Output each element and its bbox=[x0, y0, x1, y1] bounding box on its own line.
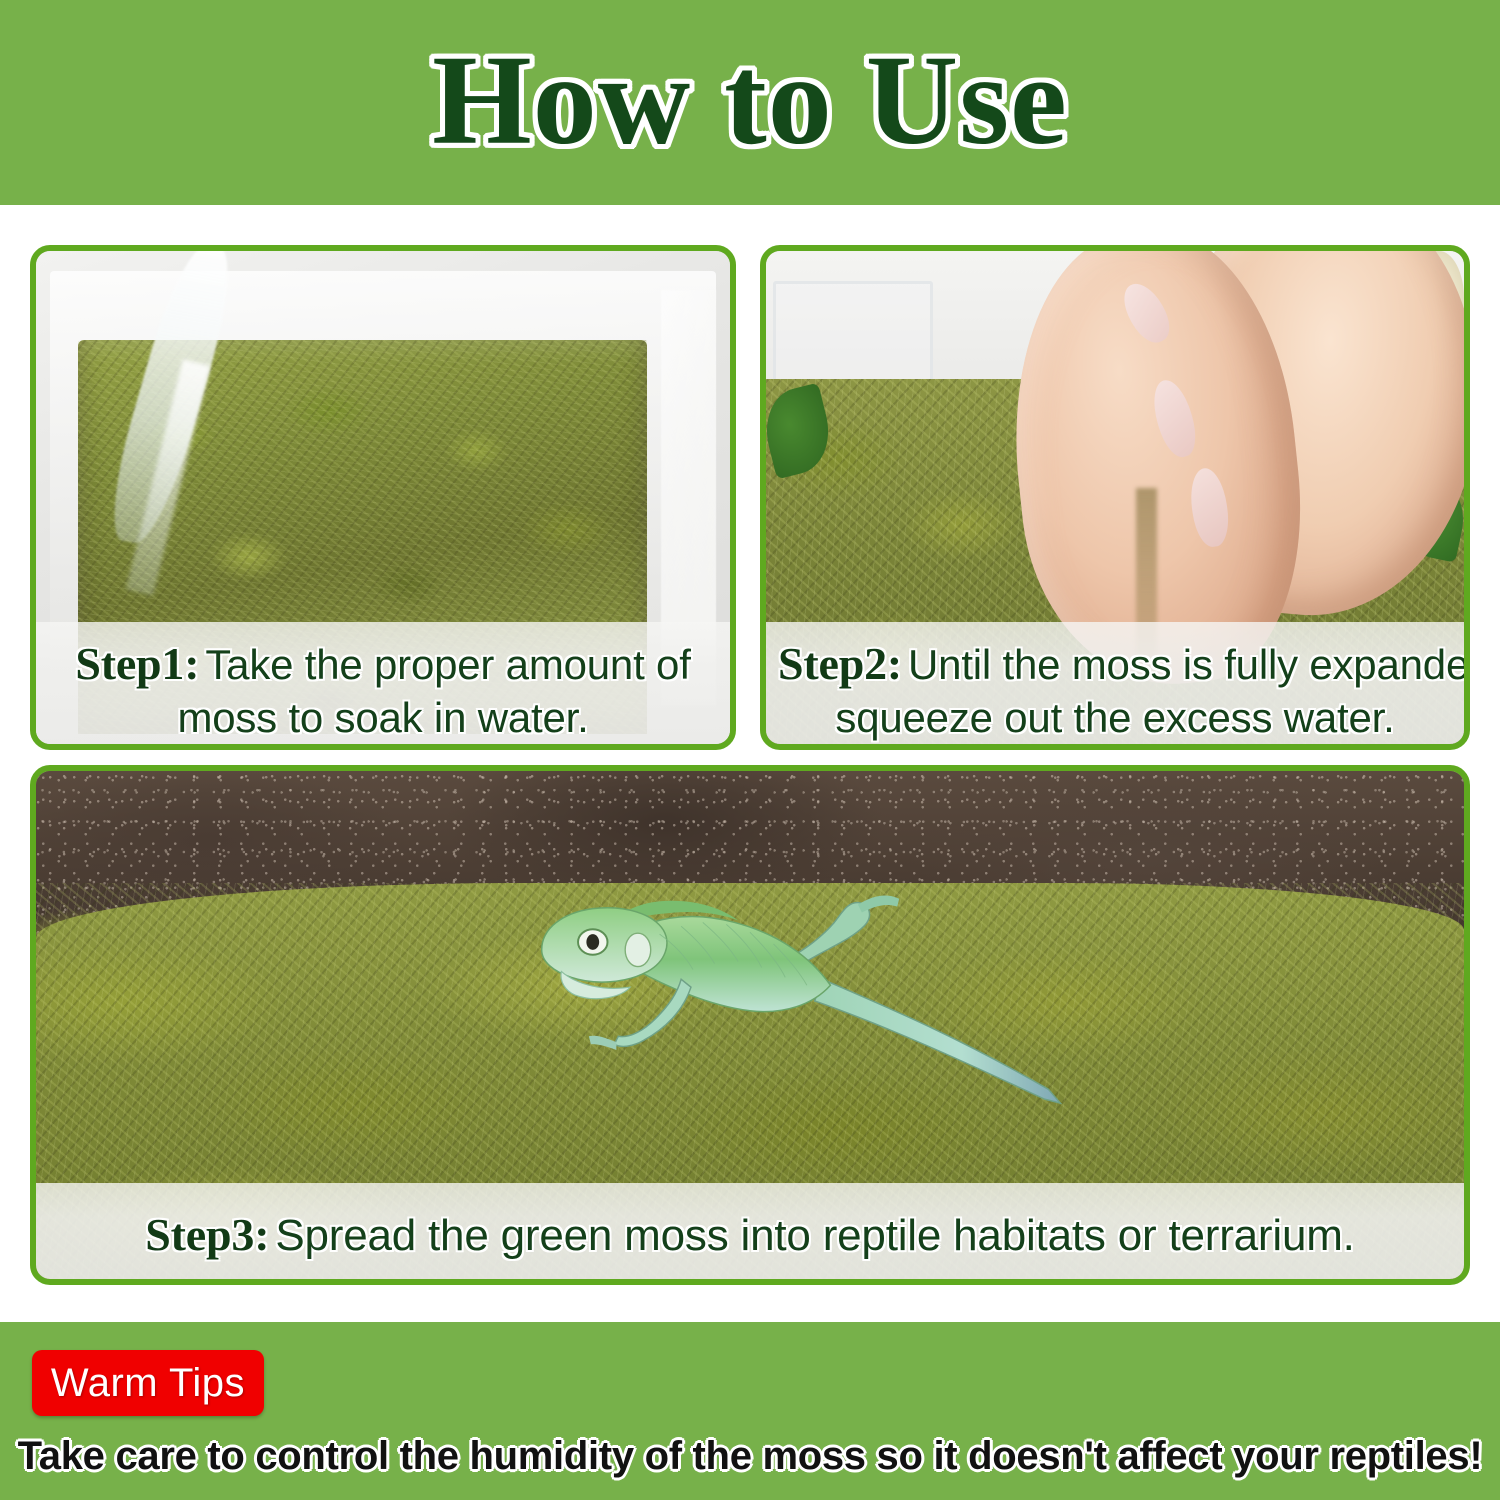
footer-banner: Warm Tips Take care to control the humid… bbox=[0, 1322, 1500, 1500]
step1-label: Step1: bbox=[75, 638, 199, 689]
step1-text-line-1: Take the proper amount of bbox=[205, 641, 690, 688]
step1-card: Step1:Take the proper amount of moss to … bbox=[30, 245, 736, 750]
warm-tips-label: Warm Tips bbox=[51, 1361, 245, 1406]
step3-text-line-1: Spread the green moss into reptile habit… bbox=[275, 1211, 1354, 1260]
step3-card: Step3:Spread the green moss into reptile… bbox=[30, 765, 1470, 1285]
step2-text-line-1: Until the moss is fully expanded, bbox=[908, 641, 1470, 688]
step2-caption: Step2:Until the moss is fully expanded, … bbox=[766, 622, 1464, 744]
warm-tips-text: Take care to control the humidity of the… bbox=[0, 1434, 1500, 1479]
step1-caption-line-2: moss to soak in water. bbox=[48, 692, 718, 743]
warm-tips-badge: Warm Tips bbox=[32, 1350, 264, 1416]
header-banner: How to Use bbox=[0, 0, 1500, 205]
step1-caption: Step1:Take the proper amount of moss to … bbox=[36, 622, 730, 744]
step3-caption-line-1: Step3:Spread the green moss into reptile… bbox=[48, 1207, 1452, 1263]
step2-label: Step2: bbox=[778, 638, 902, 689]
step3-label: Step3: bbox=[145, 1209, 269, 1260]
page-title: How to Use bbox=[432, 36, 1068, 170]
step2-caption-line-2: squeeze out the excess water. bbox=[778, 692, 1452, 743]
step2-caption-line-1: Step2:Until the moss is fully expanded, bbox=[778, 636, 1452, 692]
step1-caption-line-1: Step1:Take the proper amount of bbox=[48, 636, 718, 692]
steps-container: Step1:Take the proper amount of moss to … bbox=[0, 205, 1500, 1322]
step3-caption: Step3:Spread the green moss into reptile… bbox=[36, 1183, 1464, 1279]
step2-card: Step2:Until the moss is fully expanded, … bbox=[760, 245, 1470, 750]
lizard-illustration bbox=[379, 832, 1207, 1127]
